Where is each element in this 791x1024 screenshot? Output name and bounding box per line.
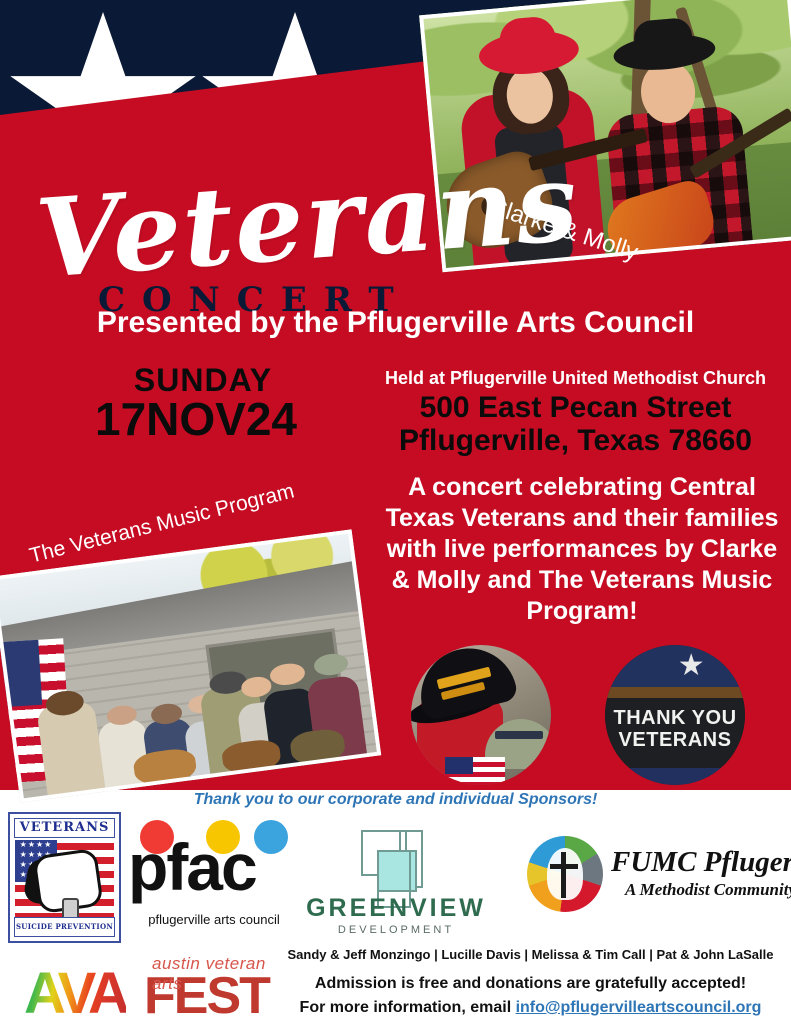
american-flag-icon bbox=[605, 645, 745, 693]
event-description: A concert celebrating Central Texas Vete… bbox=[382, 472, 782, 627]
american-flag-icon bbox=[605, 768, 745, 785]
greenview-subtitle: DEVELOPMENT bbox=[305, 924, 487, 936]
thank-you-line1: THANK YOU bbox=[605, 707, 745, 730]
more-info-prefix: For more information, email bbox=[300, 999, 516, 1016]
vspc-logo-subtitle: SUICIDE PREVENTION CHANNEL bbox=[14, 917, 115, 937]
event-date: 17NOV24 bbox=[46, 392, 346, 446]
greenview-name: GREENVIEW bbox=[305, 894, 487, 923]
avafest-tagline: austin veteran arts bbox=[152, 954, 272, 994]
pfac-tagline: pflugerville arts council bbox=[128, 912, 300, 927]
american-flag-icon bbox=[445, 757, 505, 785]
presented-by-line: Presented by the Pflugerville Arts Counc… bbox=[0, 306, 791, 340]
pfac-wordmark: pfac bbox=[128, 834, 300, 900]
logo-veterans-suicide-prevention-channel[interactable]: ★★★★★★★★★★★★★★★★ VETERANS SUICIDE PREVEN… bbox=[8, 812, 121, 943]
logo-austin-veteran-arts-fest[interactable]: AVA FEST austin veteran arts bbox=[24, 952, 272, 1016]
admission-line: Admission is free and donations are grat… bbox=[270, 975, 791, 993]
photo-veterans-music-program bbox=[0, 529, 381, 803]
wood-surface bbox=[605, 687, 745, 698]
sponsors-thanks-line: Thank you to our corporate and individua… bbox=[0, 791, 791, 809]
photo-border bbox=[0, 529, 381, 803]
venue-address-line1: 500 East Pecan Street bbox=[360, 391, 791, 425]
photo-thank-you-veterans: THANK YOU VETERANS bbox=[605, 645, 745, 785]
poster-root: Clarke & Molly Veterans CONCERT Presente… bbox=[0, 0, 791, 1024]
logo-fumc-pflugerville[interactable]: FUMC Pflugerville A Methodist Community bbox=[527, 836, 785, 914]
fumc-subtitle: A Methodist Community bbox=[625, 880, 791, 900]
cross-icon bbox=[561, 852, 566, 898]
individual-donors-line: Sandy & Jeff Monzingo | Lucille Davis | … bbox=[270, 947, 791, 962]
logo-greenview-development[interactable]: GREENVIEW DEVELOPMENT bbox=[305, 828, 487, 936]
venue-address-line2: Pflugerville, Texas 78660 bbox=[360, 424, 791, 458]
more-information-line: For more information, email info@pfluger… bbox=[270, 999, 791, 1017]
photo-veteran-caps bbox=[411, 645, 551, 785]
cross-icon bbox=[550, 864, 578, 869]
contact-email-link[interactable]: info@pflugervilleartscouncil.org bbox=[516, 999, 762, 1016]
thank-you-line2: VETERANS bbox=[605, 729, 745, 752]
logo-pflugerville-arts-council[interactable]: pfac pflugerville arts council bbox=[128, 820, 300, 932]
vspc-logo-title: VETERANS bbox=[14, 818, 115, 838]
venue-name: Held at Pflugerville United Methodist Ch… bbox=[360, 368, 791, 389]
avafest-ava-wordmark: AVA bbox=[24, 960, 126, 1024]
cap-embroidery bbox=[495, 731, 543, 739]
fumc-name: FUMC Pflugerville bbox=[611, 846, 791, 879]
